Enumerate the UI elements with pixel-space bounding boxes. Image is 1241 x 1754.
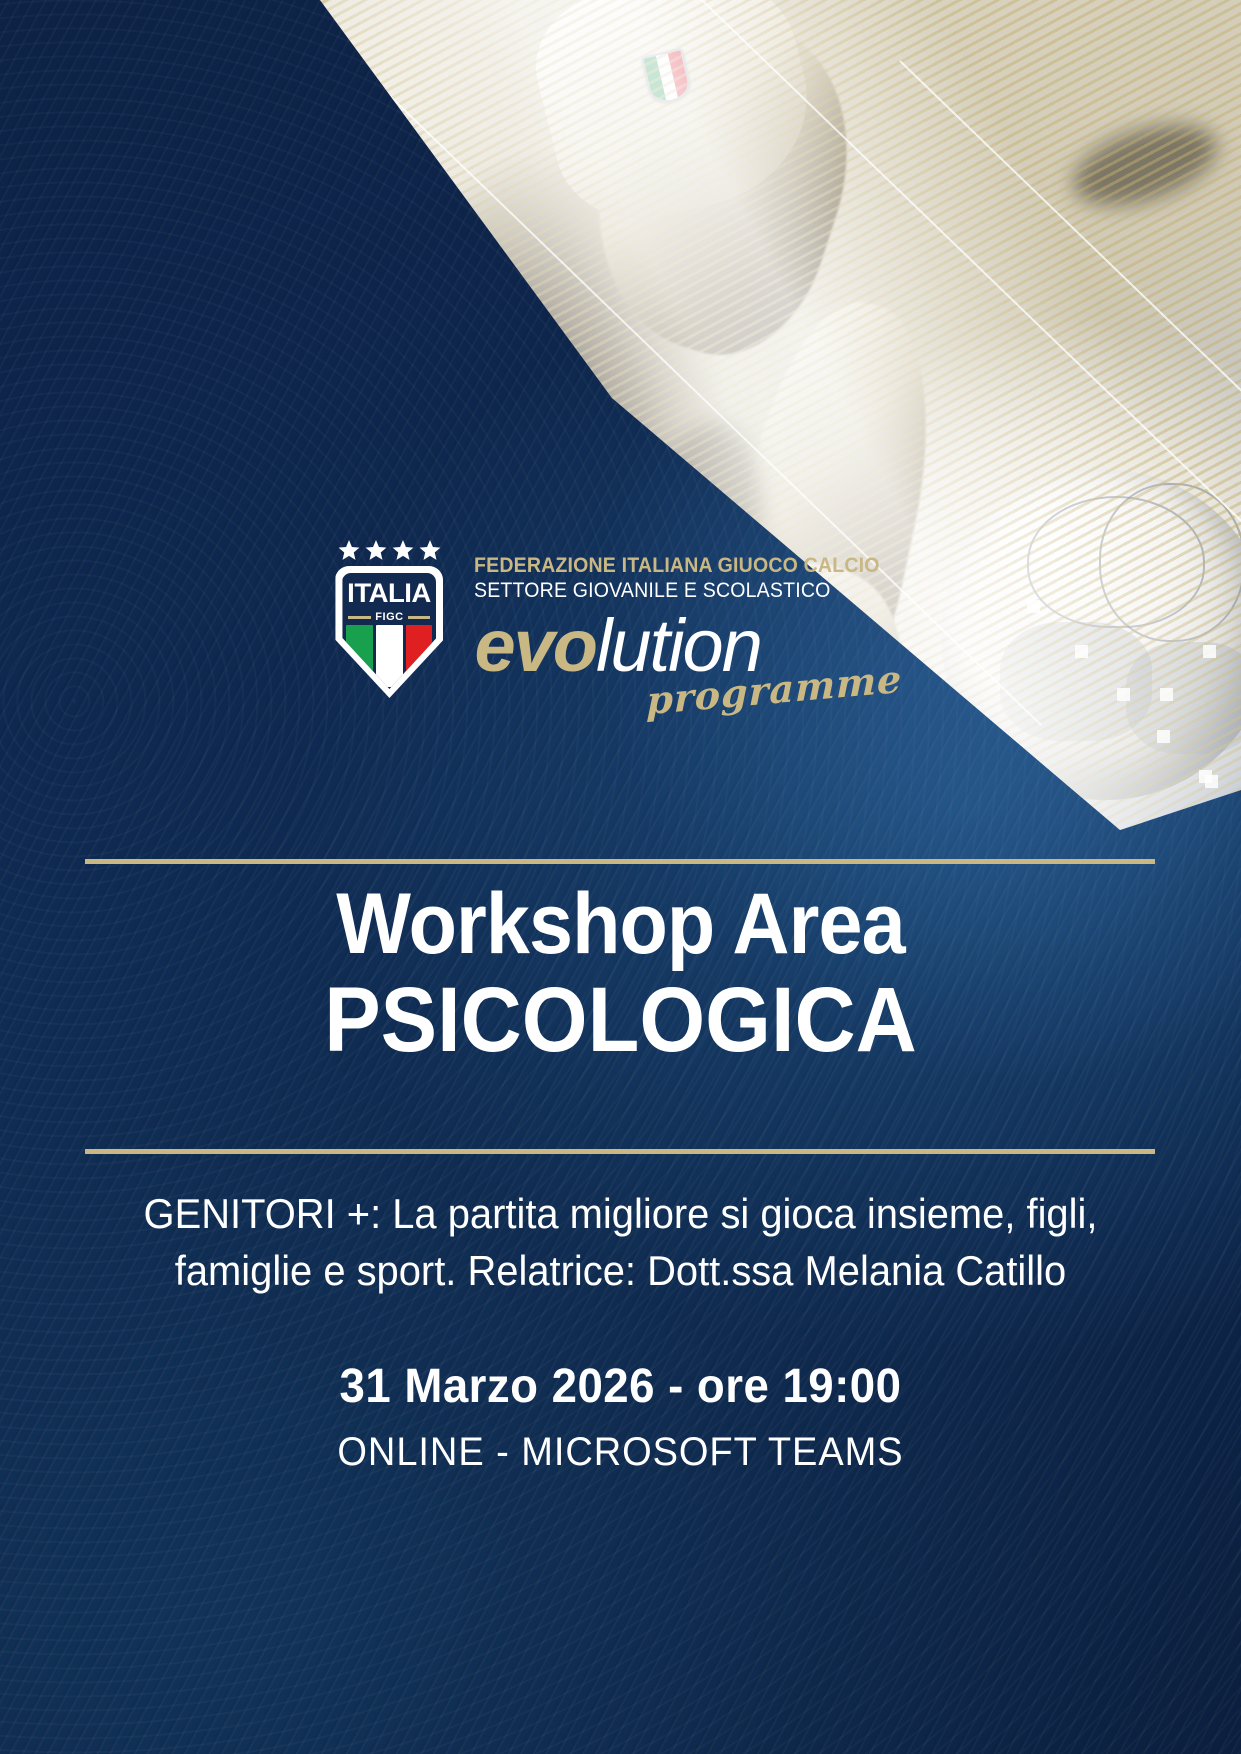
shield-bar-left [348, 616, 371, 619]
accent-square-8 [1205, 775, 1218, 788]
brand-text-block: FEDERAZIONE ITALIANA GIUOCO CALCIO SETTO… [474, 540, 910, 712]
star-icon [338, 540, 360, 561]
figc-shield: ITALIA FIGC [330, 540, 448, 698]
federation-name: FEDERAZIONE ITALIANA GIUOCO CALCIO [474, 554, 880, 578]
divider-bottom [85, 1149, 1155, 1154]
shield-graphic: ITALIA FIGC [335, 566, 443, 698]
event-date: 31 Marzo 2026 - ore 19:00 [136, 1359, 1106, 1414]
star-icon [365, 540, 387, 561]
shield-figc-row: FIGC [348, 611, 430, 623]
shield-italian-flag [346, 625, 432, 687]
poster: ITALIA FIGC FEDERAZIONE ITALIANA GIUOCO … [0, 0, 1241, 1754]
accent-square-4 [1157, 730, 1170, 743]
shield-bar-right [408, 616, 431, 619]
event-subtitle: GENITORI +: La partita migliore si gioca… [136, 1185, 1106, 1299]
flag-white [376, 625, 403, 687]
divider-top [85, 859, 1155, 864]
title-line-1: Workshop Area [50, 880, 1192, 969]
star-icon [419, 540, 441, 561]
star-icon [392, 540, 414, 561]
shield-body: ITALIA FIGC [342, 573, 436, 689]
event-location: ONLINE - MICROSOFT TEAMS [136, 1430, 1106, 1475]
brand-lockup: ITALIA FIGC FEDERAZIONE ITALIANA GIUOCO … [0, 540, 1241, 712]
title-line-2: PSICOLOGICA [50, 973, 1192, 1069]
details-block: GENITORI +: La partita migliore si gioca… [0, 1185, 1241, 1475]
evolution-wordmark-gold: evo [474, 604, 596, 687]
title-block: Workshop Area PSICOLOGICA [0, 880, 1241, 1069]
federation-department: SETTORE GIOVANILE E SCOLASTICO [474, 579, 880, 603]
shield-italia-text: ITALIA [342, 578, 436, 609]
shield-stars [330, 540, 448, 561]
shield-figc-text: FIGC [375, 611, 403, 623]
